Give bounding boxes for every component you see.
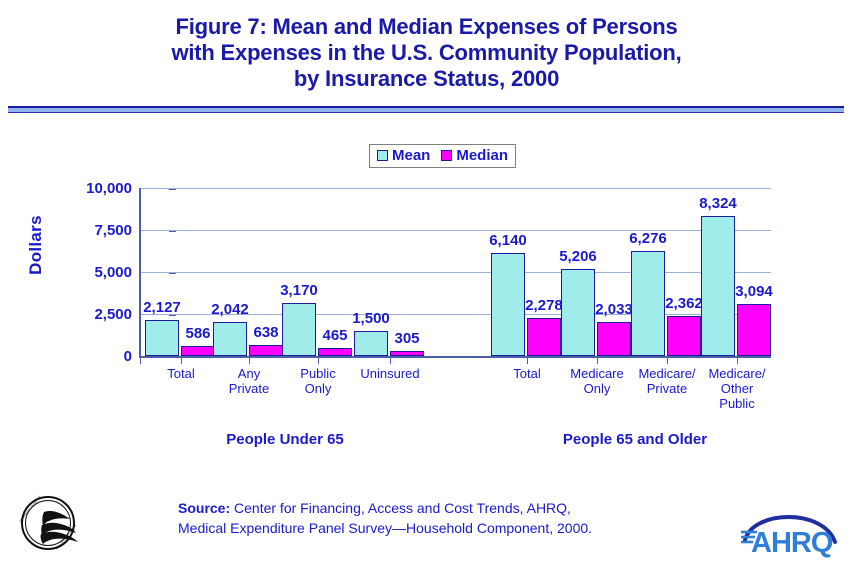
y-axis-line (139, 188, 141, 358)
source-line-1: Source: Center for Financing, Access and… (178, 498, 592, 518)
x-axis-origin-tick (140, 358, 141, 364)
bar-value-label-mean: 3,170 (275, 283, 323, 298)
group-title-65-and-older: People 65 and Older (495, 431, 775, 448)
y-axis-tick-label: 10,000 (86, 181, 132, 196)
bar-value-label-mean: 6,276 (624, 231, 672, 246)
gridline (139, 272, 771, 273)
legend-label-mean: Mean (392, 148, 430, 163)
x-axis-category-label: Medicare/OtherPublic (691, 366, 783, 411)
x-axis-tick-mark (667, 358, 668, 364)
chart-legend: Mean Median (369, 144, 516, 168)
x-axis-tick-mark (249, 358, 250, 364)
bar-median (318, 348, 352, 356)
legend-item-median: Median (441, 148, 508, 163)
bar-value-label-mean: 6,140 (484, 233, 532, 248)
bar-median (249, 345, 283, 356)
x-axis-tick-mark (597, 358, 598, 364)
figure-page: Figure 7: Mean and Median Expenses of Pe… (0, 0, 853, 569)
bar-median (390, 351, 424, 356)
y-axis-tick-label: 5,000 (94, 265, 132, 280)
x-axis-tick-mark (318, 358, 319, 364)
x-axis-category-label-line: Other (691, 381, 783, 396)
group-title-under-65: People Under 65 (150, 431, 420, 448)
gridline (139, 230, 771, 231)
bar-value-label-mean: 2,042 (206, 302, 254, 317)
x-axis-tick-mark (737, 358, 738, 364)
bar-median (181, 346, 215, 356)
bar-value-label-median: 305 (383, 331, 431, 346)
title-line-2: with Expenses in the U.S. Community Popu… (0, 40, 853, 66)
bar-median (597, 322, 631, 356)
title-line-1: Figure 7: Mean and Median Expenses of Pe… (0, 14, 853, 40)
source-line-2: Medical Expenditure Panel Survey—Househo… (178, 518, 592, 538)
hhs-seal-logo: DEPARTMENT OF HEALTH HUMAN SERVICES • US… (18, 492, 90, 554)
x-axis-line (139, 356, 771, 358)
bar-value-label-mean: 1,500 (347, 311, 395, 326)
bar-value-label-mean: 2,127 (138, 300, 186, 315)
bar-value-label-mean: 5,206 (554, 249, 602, 264)
x-axis-tick-mark (181, 358, 182, 364)
x-axis-category-label-line: Medicare/ (691, 366, 783, 381)
x-axis-category-label-line: Uninsured (344, 366, 436, 381)
x-axis-tick-mark (527, 358, 528, 364)
y-axis-tick-label: 2,500 (94, 307, 132, 322)
x-axis-category-label: Uninsured (344, 366, 436, 381)
x-axis-category-label-line: Public (691, 396, 783, 411)
legend-label-median: Median (456, 148, 508, 163)
bar-median (667, 316, 701, 356)
x-axis-category-label-line: Only (272, 381, 364, 396)
y-axis-tick-label: 7,500 (94, 223, 132, 238)
source-label: Source: (178, 500, 230, 516)
legend-swatch-median-icon (441, 150, 452, 161)
x-axis-tick-mark (390, 358, 391, 364)
source-note: Source: Center for Financing, Access and… (178, 498, 592, 538)
ahrq-logo: AHRQ (735, 500, 843, 558)
y-axis-tick-label: 0 (124, 349, 132, 364)
bar-value-label-mean: 8,324 (694, 196, 742, 211)
bar-median (527, 318, 561, 356)
page-title: Figure 7: Mean and Median Expenses of Pe… (0, 14, 853, 92)
source-text-1: Center for Financing, Access and Cost Tr… (230, 500, 571, 516)
gridline (139, 188, 771, 189)
title-line-3: by Insurance Status, 2000 (0, 66, 853, 92)
svg-text:DEPARTMENT OF HEALTH: DEPARTMENT OF HEALTH (18, 495, 41, 523)
bar-median (737, 304, 771, 356)
y-axis-tick-labels: 02,5005,0007,50010,000 (36, 180, 132, 365)
bar-value-label-median: 3,094 (730, 284, 778, 299)
bar-value-label-median: 465 (311, 328, 359, 343)
legend-swatch-mean-icon (377, 150, 388, 161)
legend-item-mean: Mean (377, 148, 430, 163)
svg-text:AHRQ: AHRQ (751, 527, 833, 558)
title-divider (8, 106, 844, 113)
